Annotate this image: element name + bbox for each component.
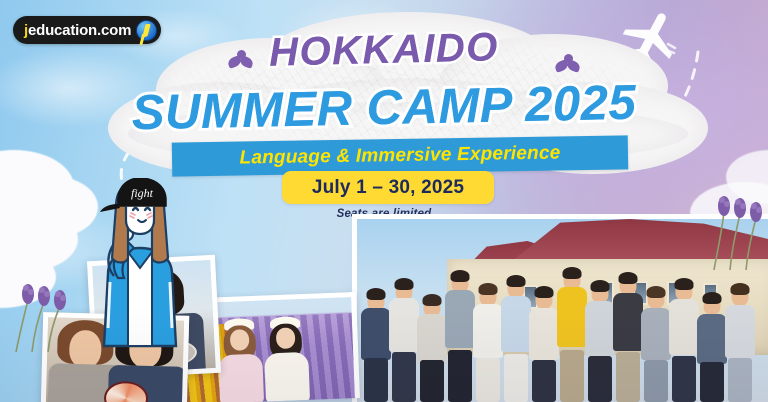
- jeducation-logo[interactable]: jeducation.com: [13, 16, 161, 44]
- students-group: [357, 260, 768, 402]
- cartoon-girl-illustration: fight: [78, 178, 202, 348]
- headline-summer-camp: SUMMER CAMP 2025: [0, 72, 768, 144]
- cap-text: fight: [131, 186, 154, 200]
- jeducation-circle-mark: [136, 20, 157, 41]
- lavender-sprig-right-icon: [700, 186, 764, 272]
- lavender-sprig-left-icon: [6, 276, 72, 354]
- date-pill: July 1 – 30, 2025: [282, 171, 494, 204]
- logo-rest: education.com: [28, 22, 131, 39]
- date-text: July 1 – 30, 2025: [312, 177, 464, 199]
- hokkaido-summer-camp-banner: HOKKAIDO HOKKAIDO SUMMER CAMP 2025 SUMME…: [0, 0, 768, 402]
- logo-text: jeducation.com: [24, 22, 131, 39]
